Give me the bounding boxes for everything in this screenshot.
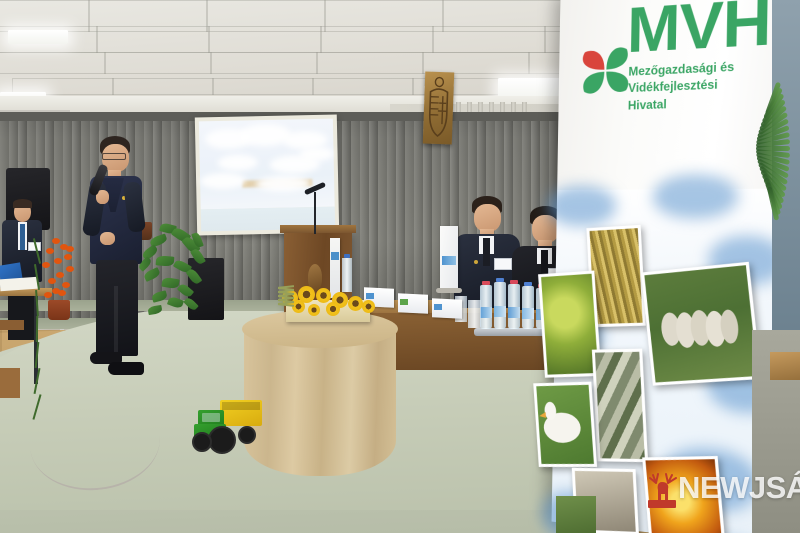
name-badge (494, 258, 512, 270)
deer-stag-icon (646, 472, 680, 508)
coat-of-arms-icon (423, 72, 454, 145)
watermark: NEWJSÁG (648, 470, 798, 510)
flower-blossom (66, 266, 74, 272)
sunflower-arrangement (278, 286, 378, 314)
conference-photo: MVH Mezőgazdasági és Vidékfejlesztési Hi… (0, 0, 800, 533)
sunflower-head (326, 302, 340, 316)
plant-leaf (167, 296, 184, 310)
bottle-cap (344, 254, 350, 258)
plant-leaf (190, 247, 206, 265)
watermark-text: NEWJSÁG (678, 470, 800, 506)
sunflower-head (348, 296, 363, 311)
name-card-logo (400, 299, 408, 305)
curtain-fold (432, 112, 441, 327)
tractor-wheel-rear (208, 426, 236, 454)
water-bottle (494, 282, 506, 329)
water-bottle (508, 284, 520, 329)
flower-blossom (66, 246, 74, 252)
flower-blossom (52, 238, 60, 244)
plant-leaf (177, 282, 194, 299)
sheep-shapes (644, 265, 757, 382)
mvh-subtitle-line3: Hivatal (628, 94, 734, 115)
projection-screen (195, 115, 339, 236)
ceiling-tile (316, 52, 424, 74)
white-goose-photo (533, 382, 597, 467)
glasses-icon (102, 153, 126, 160)
ceiling-tile (422, 52, 530, 74)
tractor-wheel-front (192, 432, 212, 452)
flower-blossom (64, 254, 72, 260)
grass-strip (556, 496, 596, 533)
goose-shape (536, 385, 594, 464)
podium-top (280, 225, 356, 233)
table-flag-base (436, 288, 462, 293)
tablecloth (244, 328, 396, 476)
lapel-pin-icon (474, 260, 478, 264)
plant-leaf (183, 296, 199, 312)
mvh-acronym: MVH (627, 0, 772, 68)
flower-blossom (44, 292, 52, 298)
shoe-right (108, 362, 144, 375)
flower-pot (48, 300, 70, 320)
podium-microphone (314, 192, 316, 234)
ceiling-tile (432, 26, 546, 53)
grazing-sheep-photo (641, 262, 762, 386)
table-flag-logo (442, 256, 456, 265)
flower-blossom (56, 272, 64, 278)
tractor-cab-window (202, 413, 220, 422)
orange-flowers (36, 238, 82, 324)
round-table (242, 310, 398, 475)
flower-blossom (58, 290, 66, 296)
sunflower-head (316, 288, 331, 303)
cloud-shape (299, 147, 333, 162)
podium-ribbon-logo (331, 252, 339, 260)
sunflower-head (308, 304, 320, 316)
flower-blossom (48, 278, 56, 284)
toy-tractor (192, 398, 264, 460)
ceiling-tile (312, 78, 414, 95)
flower-blossom (62, 282, 70, 288)
water-bottle (480, 285, 492, 329)
ceiling-tile (0, 52, 106, 74)
sunflower-stem (278, 303, 294, 307)
mvh-subtitle: Mezőgazdasági és Vidékfejlesztési Hivata… (628, 59, 735, 114)
plant-leaf (186, 267, 203, 285)
flower-blossom (46, 248, 54, 254)
hungarian-crest-svg (423, 72, 454, 145)
side-chair (0, 320, 24, 330)
flower-blossom (42, 262, 50, 268)
palm-plant (756, 96, 800, 356)
aerial-farmland-photo (592, 349, 648, 463)
flower-blossom (54, 258, 62, 264)
water-bottle (522, 286, 534, 329)
ceiling-tile (212, 78, 314, 95)
drinking-glass (468, 300, 481, 328)
ceiling-tile (210, 52, 318, 74)
side-chair-2 (0, 368, 20, 398)
sky-patch (653, 174, 739, 219)
cloud-shape (200, 172, 246, 189)
sunflower-head (362, 300, 375, 313)
trailer-wheel (238, 426, 256, 444)
ceiling-tile (320, 26, 434, 53)
cloud-shape (256, 175, 310, 192)
sky-patch (547, 186, 617, 227)
wooden-bench (770, 352, 800, 380)
cloud-shape (218, 154, 258, 171)
flower-stem (35, 290, 39, 316)
ceiling-tile (96, 26, 210, 53)
speaker-with-microphone (78, 136, 160, 388)
name-card-logo (434, 304, 442, 310)
ceiling-tile (208, 26, 322, 53)
ceiling-tile (112, 78, 214, 95)
ceiling-tile (104, 52, 212, 74)
ceiling-light (8, 30, 68, 44)
